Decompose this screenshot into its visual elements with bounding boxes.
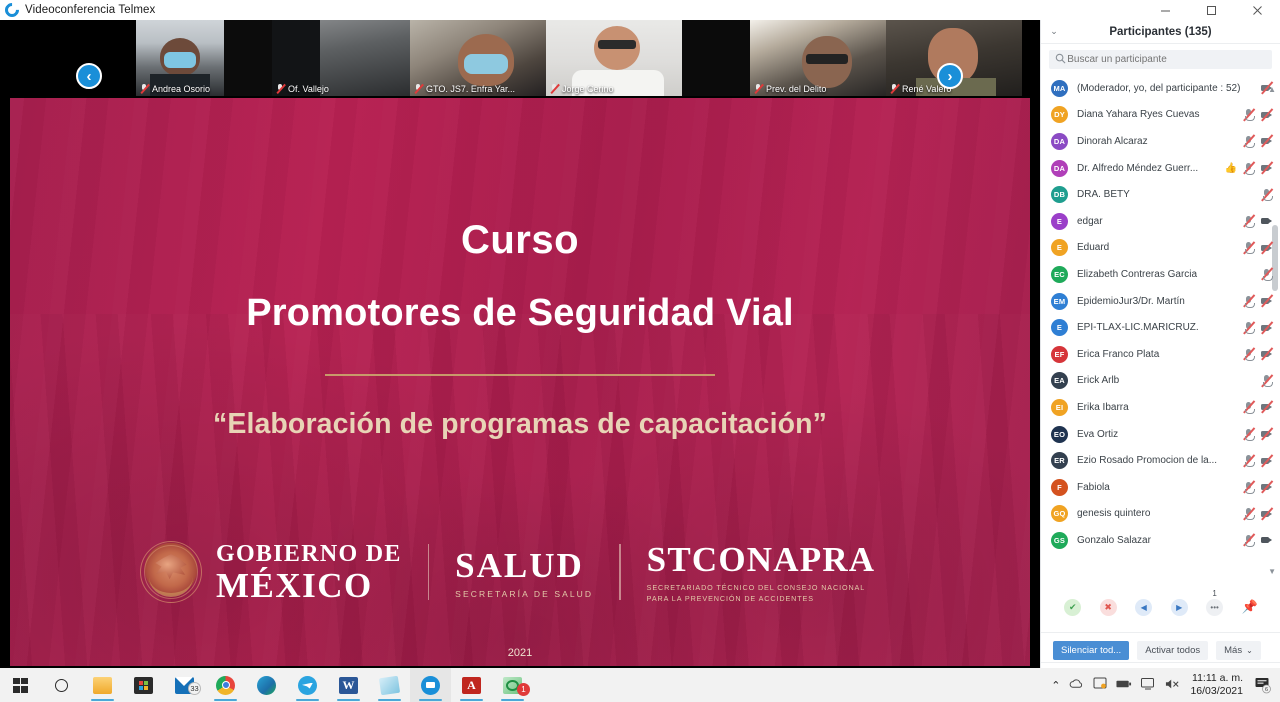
file-explorer-button[interactable] [82, 668, 123, 702]
mic-off-icon[interactable] [1242, 108, 1255, 121]
maximize-button[interactable] [1188, 0, 1234, 20]
slide-divider [325, 374, 715, 376]
gobierno-de-mexico-logo: GOBIERNO DE MÉXICO [216, 542, 402, 603]
video-tile[interactable]: Of. Vallejo [272, 20, 410, 96]
mic-off-icon[interactable] [1260, 188, 1273, 201]
tile-name: Of. Vallejo [288, 84, 329, 94]
word-button[interactable]: W [328, 668, 369, 702]
camera-off-icon[interactable] [1260, 348, 1273, 361]
participant-name: genesis quintero [1077, 508, 1238, 519]
whatsapp-unread-badge: 1 [517, 683, 530, 696]
panel-buttons: Silenciar tod... Activar todos Más ⌄ [1041, 632, 1280, 660]
mic-off-icon [414, 83, 423, 94]
video-tile-filler-b[interactable] [682, 20, 750, 96]
clock-time: 11:11 a. m. [1190, 672, 1243, 685]
mic-off-icon[interactable] [1242, 215, 1255, 228]
camera-on-icon[interactable] [1260, 215, 1273, 228]
avatar: E [1051, 319, 1068, 336]
mic-off-icon [550, 83, 559, 94]
stconapra-logo: STCONAPRA SECRETARIADO TÉCNICO DEL CONSE… [647, 540, 876, 604]
participant-row[interactable]: GSGonzalo Salazar [1041, 527, 1280, 554]
avatar: GS [1051, 532, 1068, 549]
more-options-badge: 1 [1212, 589, 1216, 598]
stconapra-subtitle-line2: PARA LA PREVENCIÓN DE ACCIDENTES [647, 594, 876, 604]
network-monitor-icon[interactable] [1141, 678, 1156, 693]
avatar: EO [1051, 426, 1068, 443]
search-icon [1055, 53, 1067, 67]
mic-off-icon[interactable] [1242, 295, 1255, 308]
windows-taskbar: 33 W [0, 668, 1280, 702]
camera-off-icon[interactable] [1260, 481, 1273, 494]
participant-status-icons [1242, 428, 1273, 441]
mask-shape [164, 52, 196, 68]
edge-icon [257, 676, 276, 695]
participant-status-icons [1260, 188, 1273, 201]
participant-row[interactable]: MA(Moderador, yo, del participante : 52) [1041, 75, 1280, 102]
mic-off-icon[interactable] [1242, 481, 1255, 494]
participant-row[interactable]: Eedgar [1041, 208, 1280, 235]
camera-off-icon[interactable] [1260, 321, 1273, 334]
action-center-icon[interactable]: 6 [1254, 676, 1272, 694]
avatar: DA [1051, 160, 1068, 177]
participant-row[interactable]: FFabiola [1041, 474, 1280, 501]
participants-list[interactable]: ▲ ▼ MA(Moderador, yo, del participante :… [1041, 75, 1280, 582]
participant-status-icons [1242, 507, 1273, 520]
more-button-label: Más [1224, 645, 1242, 656]
participant-row[interactable]: DBDRA. BETY [1041, 181, 1280, 208]
participant-name: EPI-TLAX-LIC.MARICRUZ. [1077, 322, 1238, 333]
salud-title: SALUD [455, 546, 593, 586]
reject-icon[interactable]: ✖ [1100, 599, 1117, 616]
avatar: DY [1051, 106, 1068, 123]
volume-muted-icon[interactable] [1165, 678, 1181, 693]
mic-off-icon[interactable] [1242, 241, 1255, 254]
mail-button[interactable]: 33 [164, 668, 205, 702]
speaker-low-icon[interactable]: ◀ [1135, 599, 1152, 616]
camera-off-icon[interactable] [1260, 82, 1273, 95]
windows-logo-icon [13, 678, 28, 693]
onedrive-cloud-icon[interactable] [1069, 678, 1084, 692]
scroll-down-icon[interactable]: ▼ [1268, 567, 1276, 576]
salud-subtitle: SECRETARÍA DE SALUD [455, 589, 593, 599]
avatar: DB [1051, 186, 1068, 203]
avatar: EA [1051, 372, 1068, 389]
video-tile[interactable]: Andrea Osorio [136, 20, 224, 96]
participant-row[interactable]: EEPI-TLAX-LIC.MARICRUZ. [1041, 314, 1280, 341]
participant-name: Eduard [1077, 242, 1238, 253]
participant-status-icons [1242, 534, 1273, 547]
camera-off-icon[interactable] [1260, 108, 1273, 121]
video-feed [224, 20, 272, 96]
battery-icon[interactable] [1116, 679, 1132, 692]
participant-action-icons: ✔ ✖ ◀ ▶ 1••• 📌 [1041, 590, 1280, 624]
camera-off-icon[interactable] [1260, 454, 1273, 467]
window-title: Videoconferencia Telmex [25, 4, 155, 16]
mic-off-icon [890, 83, 899, 94]
mic-off-icon[interactable] [1242, 348, 1255, 361]
participant-status-icons [1242, 481, 1273, 494]
avatar: EC [1051, 266, 1068, 283]
participants-title: Participantes (135) [1067, 26, 1254, 38]
mic-off-icon[interactable] [1260, 268, 1273, 281]
stconapra-title: STCONAPRA [647, 540, 876, 580]
microsoft-store-button[interactable] [123, 668, 164, 702]
participant-name: Dr. Alfredo Méndez Guerr... [1077, 163, 1221, 174]
slide-subtitle-quote: “Elaboración de programas de capacitació… [10, 408, 1030, 441]
participant-status-icons [1260, 268, 1273, 281]
avatar: E [1051, 239, 1068, 256]
participants-panel: ⌄ Participantes (135) ▲ ▼ MA(Moderador, … [1040, 20, 1280, 668]
participant-name: Erick Arlb [1077, 375, 1256, 386]
mail-unread-badge: 33 [188, 682, 201, 695]
whatsapp-button[interactable]: 1 [492, 668, 533, 702]
participant-name: Ezio Rosado Promocion de la... [1077, 455, 1238, 466]
escudo-nacional-icon [140, 541, 202, 603]
mic-off-icon[interactable] [1242, 534, 1255, 547]
camera-on-icon[interactable] [1260, 534, 1273, 547]
mic-off-icon[interactable] [1242, 401, 1255, 414]
avatar: E [1051, 213, 1068, 230]
participant-name: EpidemioJur3/Dr. Martín [1077, 296, 1238, 307]
participant-status-icons [1260, 82, 1273, 95]
slide-heading-main: Promotores de Seguridad Vial [10, 292, 1030, 335]
participant-row[interactable]: EFErica Franco Plata [1041, 341, 1280, 368]
participant-status-icons [1242, 401, 1273, 414]
mic-off-icon[interactable] [1242, 135, 1255, 148]
avatar: DA [1051, 133, 1068, 150]
gob-line-1: GOBIERNO DE [216, 542, 402, 566]
more-button[interactable]: Más ⌄ [1216, 641, 1261, 660]
participant-row[interactable]: DADinorah Alcaraz [1041, 128, 1280, 155]
video-thumbnail-strip: Andrea Osorio Of. Vallejo GTO. JS7. Enfr… [0, 20, 1040, 96]
mic-off-icon [276, 83, 285, 94]
participant-status-icons [1242, 348, 1273, 361]
window-titlebar: Videoconferencia Telmex [0, 0, 1280, 20]
camera-off-icon[interactable] [1260, 507, 1273, 520]
participant-name: Diana Yahara Ryes Cuevas [1077, 109, 1238, 120]
strip-pad-left [0, 20, 136, 96]
camera-off-icon[interactable] [1260, 241, 1273, 254]
participant-row[interactable]: DYDiana Yahara Ryes Cuevas [1041, 102, 1280, 129]
tile-name: GTO. JS7. Enfra Yar... [426, 84, 515, 94]
avatar: F [1051, 479, 1068, 496]
participant-status-icons [1260, 374, 1273, 387]
camera-off-icon[interactable] [1260, 162, 1273, 175]
participant-search[interactable] [1049, 50, 1272, 69]
tile-name: Prev. del Delito [766, 84, 826, 94]
participant-status-icons [1242, 108, 1273, 121]
edge-button[interactable] [246, 668, 287, 702]
participant-status-icons [1242, 241, 1273, 254]
avatar: MA [1051, 80, 1068, 97]
avatar: GQ [1051, 505, 1068, 522]
participant-row[interactable]: ECElizabeth Contreras Garcia [1041, 261, 1280, 288]
folder-icon [93, 677, 112, 694]
participant-row[interactable]: GQgenesis quintero [1041, 501, 1280, 528]
participant-row[interactable]: EMEpidemioJur3/Dr. Martín [1041, 288, 1280, 315]
mask-shape [464, 54, 508, 74]
tile-name-row: Andrea Osorio [136, 82, 224, 95]
sticky-notes-button[interactable] [369, 668, 410, 702]
participant-status-icons [1242, 215, 1273, 228]
start-button[interactable] [0, 668, 41, 702]
search-input[interactable] [1067, 54, 1266, 65]
participant-status-icons [1242, 454, 1273, 467]
mute-all-button[interactable]: Silenciar tod... [1053, 641, 1129, 660]
accept-icon[interactable]: ✔ [1064, 599, 1081, 616]
video-tile[interactable]: Prev. del Delito [750, 20, 886, 96]
participant-name: Fabiola [1077, 482, 1238, 493]
word-icon: W [339, 677, 358, 694]
avatar: EF [1051, 346, 1068, 363]
telmex-camera-icon [421, 676, 440, 695]
minimize-button[interactable] [1142, 0, 1188, 20]
participant-row[interactable]: EREzio Rosado Promocion de la... [1041, 447, 1280, 474]
mic-off-icon[interactable] [1242, 507, 1255, 520]
chrome-icon [216, 676, 235, 695]
video-tile[interactable]: Jorge Cerino [546, 20, 682, 96]
participant-name: Erika Ibarra [1077, 402, 1238, 413]
tile-name-row: Prev. del Delito [750, 82, 886, 95]
mic-off-icon[interactable] [1242, 321, 1255, 334]
logo-divider-1 [428, 544, 430, 600]
participant-row[interactable]: EOEva Ortiz [1041, 421, 1280, 448]
mic-off-icon [754, 83, 763, 94]
thumbs-up-icon: 👍 [1225, 163, 1237, 174]
collapse-participants-icon[interactable]: ⌄ [1041, 26, 1067, 37]
window-controls [1142, 0, 1280, 20]
avatar: EM [1051, 293, 1068, 310]
system-tray: ⌃ 11:11 a. m. 16/03/2021 [1051, 672, 1280, 699]
slide-year: 2021 [10, 647, 1030, 659]
next-participants-button[interactable]: › [937, 63, 963, 89]
mic-off-icon [140, 83, 149, 94]
telegram-button[interactable] [287, 668, 328, 702]
more-options-icon[interactable]: 1••• [1206, 599, 1223, 616]
chrome-button[interactable] [205, 668, 246, 702]
participants-scrollbar[interactable] [1272, 225, 1278, 291]
participant-name: DRA. BETY [1077, 189, 1256, 200]
photo-app-icon[interactable] [1093, 677, 1107, 693]
clock-date: 16/03/2021 [1190, 685, 1243, 698]
participant-name: Erica Franco Plata [1077, 349, 1238, 360]
video-tile-filler-a[interactable] [224, 20, 272, 96]
show-hidden-icons-button[interactable]: ⌃ [1051, 679, 1060, 692]
participant-name: Elizabeth Contreras Garcia [1077, 269, 1256, 280]
sticky-notes-icon [379, 675, 400, 694]
gob-line-2: MÉXICO [216, 568, 402, 603]
avatar: EI [1051, 399, 1068, 416]
salud-logo: SALUD SECRETARÍA DE SALUD [455, 546, 593, 599]
tile-name-row: Of. Vallejo [272, 82, 410, 95]
mic-off-icon[interactable] [1260, 374, 1273, 387]
acrobat-reader-button[interactable]: A [451, 668, 492, 702]
unmute-all-button[interactable]: Activar todos [1137, 641, 1208, 660]
telmex-logo-icon [2, 0, 22, 20]
video-feed [682, 20, 750, 96]
tile-name: Andrea Osorio [152, 84, 210, 94]
circle-search-icon [55, 679, 68, 692]
prev-participants-button[interactable]: ‹ [76, 63, 102, 89]
speaker-high-icon[interactable]: ▶ [1171, 599, 1188, 616]
avatar: ER [1051, 452, 1068, 469]
glasses-shape [806, 54, 848, 64]
cortana-search-button[interactable] [41, 668, 82, 702]
participant-name: edgar [1077, 216, 1238, 227]
mic-off-icon[interactable] [1242, 428, 1255, 441]
participant-name: Eva Ortiz [1077, 429, 1238, 440]
shared-slide[interactable]: Curso Promotores de Seguridad Vial “Elab… [10, 98, 1030, 666]
participant-row[interactable]: EIErika Ibarra [1041, 394, 1280, 421]
tile-name-row: Jorge Cerino [546, 82, 682, 95]
telegram-icon [298, 676, 317, 695]
svg-text:6: 6 [1265, 687, 1268, 693]
tile-name: Jorge Cerino [562, 84, 614, 94]
camera-off-icon[interactable] [1260, 295, 1273, 308]
participant-name: (Moderador, yo, del participante : 52) [1077, 83, 1256, 94]
glasses-shape [598, 40, 636, 49]
logo-divider-2 [619, 544, 621, 600]
tile-name-row: GTO. JS7. Enfra Yar... [410, 82, 546, 95]
participant-row[interactable]: EEduard [1041, 235, 1280, 262]
participant-row[interactable]: DADr. Alfredo Méndez Guerr...👍 [1041, 155, 1280, 182]
acrobat-icon: A [462, 677, 481, 694]
participant-name: Dinorah Alcaraz [1077, 136, 1238, 147]
screen-root: Videoconferencia Telmex Andrea Osorio [0, 0, 1280, 702]
chevron-down-icon: ⌄ [1246, 646, 1253, 655]
pin-icon[interactable]: 📌 [1242, 599, 1258, 615]
participant-status-icons: 👍 [1225, 162, 1273, 175]
participant-row[interactable]: EAErick Arlb [1041, 368, 1280, 395]
camera-off-icon[interactable] [1260, 428, 1273, 441]
participant-status-icons [1242, 321, 1273, 334]
stconapra-subtitle-line1: SECRETARIADO TÉCNICO DEL CONSEJO NACIONA… [647, 583, 876, 593]
videoconference-button[interactable] [410, 668, 451, 702]
store-bag-icon [134, 677, 153, 694]
slide-logo-row: GOBIERNO DE MÉXICO SALUD SECRETARÍA DE S… [140, 536, 875, 608]
mic-off-icon[interactable] [1242, 162, 1255, 175]
camera-off-icon[interactable] [1260, 401, 1273, 414]
taskbar-clock[interactable]: 11:11 a. m. 16/03/2021 [1190, 672, 1243, 699]
participants-header: ⌄ Participantes (135) [1041, 20, 1280, 44]
video-tile[interactable]: GTO. JS7. Enfra Yar... [410, 20, 546, 96]
slide-heading-curso: Curso [10, 218, 1030, 263]
close-button[interactable] [1234, 0, 1280, 20]
participant-status-icons [1242, 295, 1273, 308]
camera-off-icon[interactable] [1260, 135, 1273, 148]
mic-off-icon[interactable] [1242, 454, 1255, 467]
participant-status-icons [1242, 135, 1273, 148]
participant-name: Gonzalo Salazar [1077, 535, 1238, 546]
